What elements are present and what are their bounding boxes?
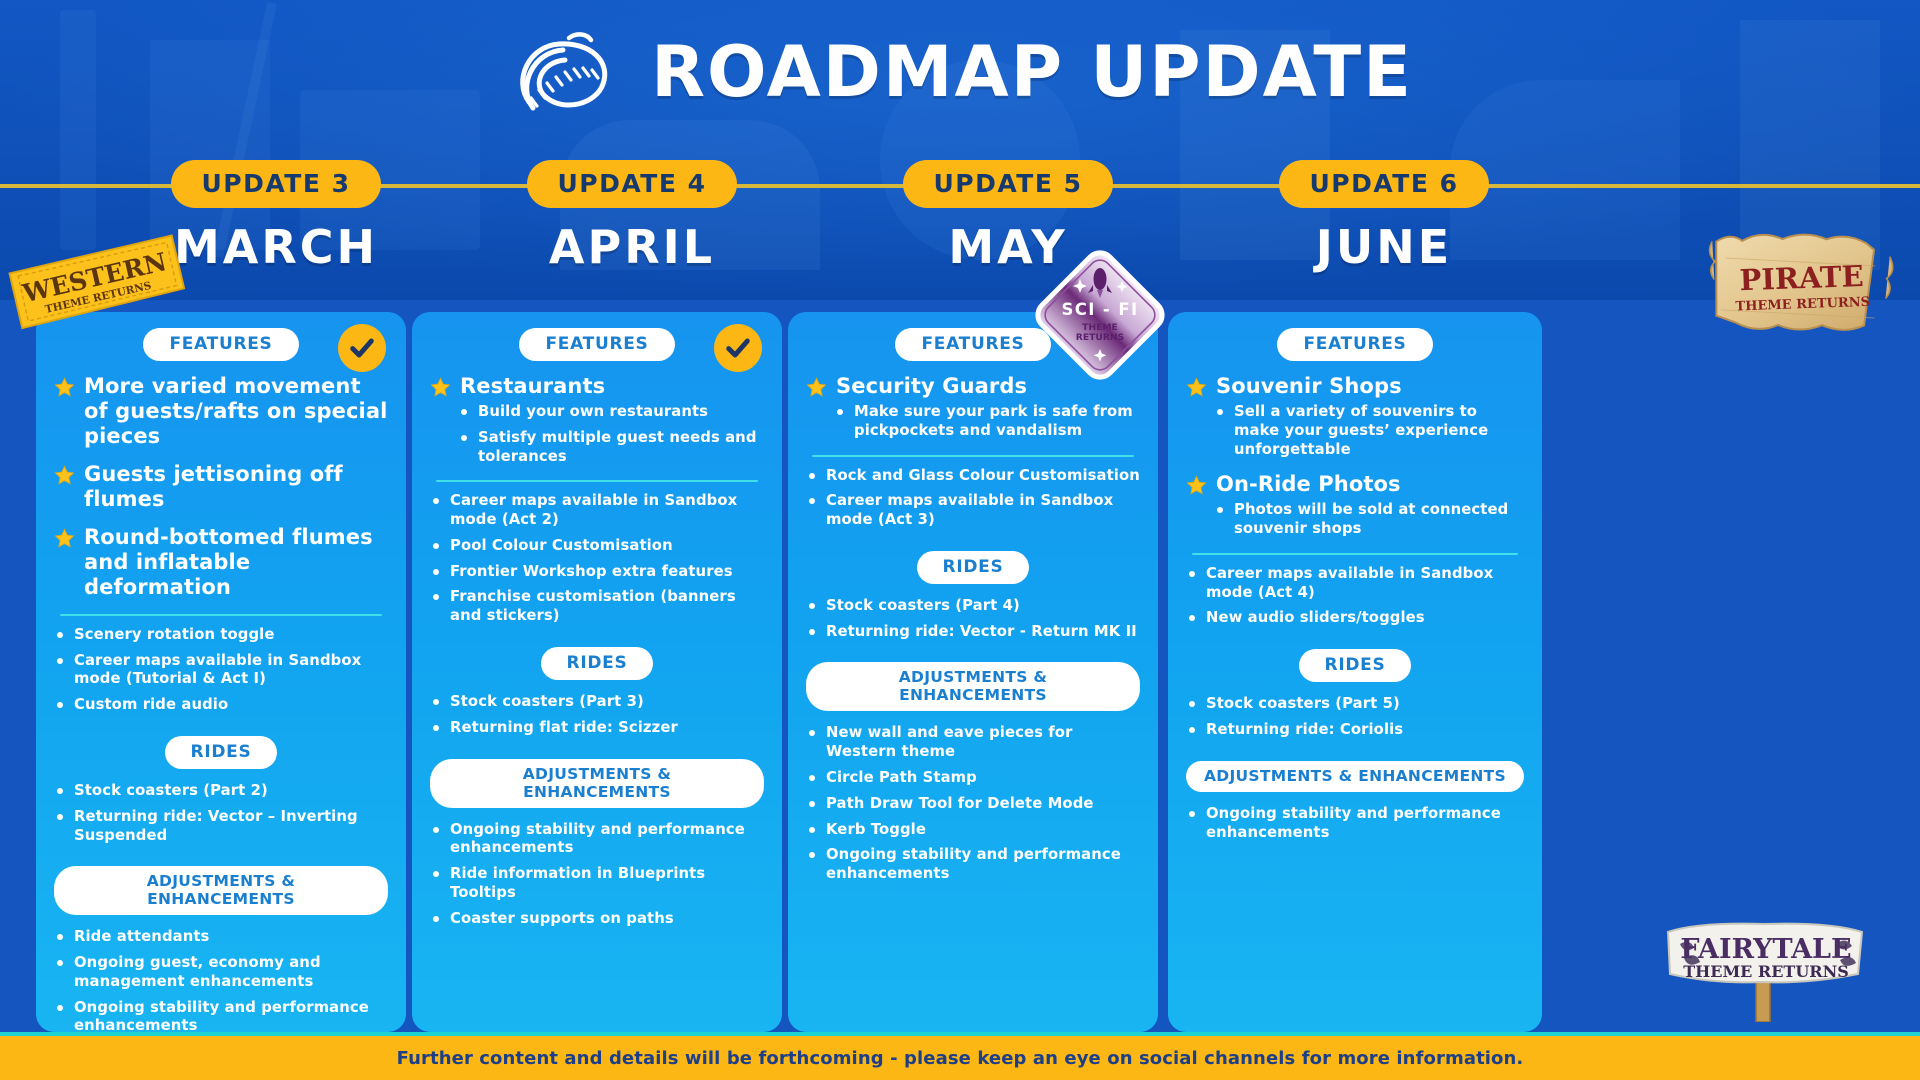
list-item: Stock coasters (Part 3) <box>430 693 764 712</box>
bullet-list: Stock coasters (Part 4)Returning ride: V… <box>806 597 1140 642</box>
list-item: Path Draw Tool for Delete Mode <box>806 795 1140 814</box>
adjustments-pill: ADJUSTMENTS & ENHANCEMENTS <box>430 759 764 808</box>
adjustments-pill: ADJUSTMENTS & ENHANCEMENTS <box>54 866 388 915</box>
checkmark-icon <box>724 334 752 362</box>
list-item: Sell a variety of souvenirs to make your… <box>1214 403 1524 459</box>
rides-pill: RIDES <box>165 736 278 769</box>
bullet-list: Make sure your park is safe from pickpoc… <box>834 403 1140 441</box>
feature-highlight: Restaurants <box>430 374 764 399</box>
list-item: Career maps available in Sandbox mode (A… <box>806 492 1140 530</box>
section-divider <box>60 614 382 616</box>
fairytale-theme-badge: FAIRYTALE THEME RETURNS <box>1660 912 1870 1022</box>
feature-highlight: On-Ride Photos <box>1186 472 1524 497</box>
bullet-list: Sell a variety of souvenirs to make your… <box>1214 403 1524 459</box>
footer-note: Further content and details will be fort… <box>397 1048 1524 1069</box>
adjustments-pill: ADJUSTMENTS & ENHANCEMENTS <box>806 662 1140 711</box>
update-pill[interactable]: UPDATE 4 <box>527 160 736 208</box>
list-item: Kerb Toggle <box>806 821 1140 840</box>
feature-title: Round-bottomed flumes and inflatable def… <box>84 525 388 600</box>
bullet-list: Career maps available in Sandbox mode (A… <box>1186 565 1524 628</box>
star-icon <box>54 377 75 398</box>
rides-pill: RIDES <box>917 551 1030 584</box>
bullet-list: Stock coasters (Part 3)Returning flat ri… <box>430 693 764 738</box>
feature-highlight: Souvenir Shops <box>1186 374 1524 399</box>
bullet-list: Build your own restaurantsSatisfy multip… <box>458 403 764 466</box>
page-title: ROADMAP UPDATE <box>651 31 1413 113</box>
roadmap-card-march: FEATURESMore varied movement of guests/r… <box>36 312 406 1032</box>
bullet-list: Scenery rotation toggleCareer maps avail… <box>54 626 388 715</box>
features-pill: FEATURES <box>143 328 298 361</box>
list-item: Ride attendants <box>54 928 388 947</box>
list-item: Stock coasters (Part 5) <box>1186 695 1524 714</box>
list-item: Returning ride: Vector – Inverting Suspe… <box>54 808 388 846</box>
feature-title: Security Guards <box>836 374 1027 399</box>
completed-check-badge <box>714 324 762 372</box>
bullet-list: Photos will be sold at connected souveni… <box>1214 501 1524 539</box>
list-item: Rock and Glass Colour Customisation <box>806 467 1140 486</box>
list-item: Returning ride: Vector - Return MK II <box>806 623 1140 642</box>
sci-fi-theme-badge: SCI - FI THEME RETURNS <box>1030 245 1170 385</box>
feature-title: On-Ride Photos <box>1216 472 1401 497</box>
adjustments-pill: ADJUSTMENTS & ENHANCEMENTS <box>1186 761 1524 792</box>
list-item: Ongoing stability and performance enhanc… <box>806 846 1140 884</box>
star-icon <box>1186 475 1207 496</box>
list-item: Frontier Workshop extra features <box>430 563 764 582</box>
bullet-list: New wall and eave pieces for Western the… <box>806 724 1140 883</box>
completed-check-badge <box>338 324 386 372</box>
rides-pill: RIDES <box>1299 649 1412 682</box>
list-item: Ongoing guest, economy and management en… <box>54 954 388 992</box>
section-divider <box>436 480 758 482</box>
rides-pill: RIDES <box>541 647 654 680</box>
list-item: New audio sliders/toggles <box>1186 609 1524 628</box>
features-pill: FEATURES <box>895 328 1050 361</box>
list-item: Ongoing stability and performance enhanc… <box>54 999 388 1037</box>
bullet-list: Stock coasters (Part 2)Returning ride: V… <box>54 782 388 845</box>
feature-title: Souvenir Shops <box>1216 374 1402 399</box>
list-item: Coaster supports on paths <box>430 910 764 929</box>
bullet-list: Stock coasters (Part 5)Returning ride: C… <box>1186 695 1524 740</box>
star-icon <box>430 377 451 398</box>
feature-highlight: Round-bottomed flumes and inflatable def… <box>54 525 388 600</box>
list-item: New wall and eave pieces for Western the… <box>806 724 1140 762</box>
fairytale-badge-subtitle: THEME RETURNS <box>1683 962 1849 981</box>
bullet-list: Ongoing stability and performance enhanc… <box>1186 805 1524 843</box>
pirate-theme-badge: PIRATE THEME RETURNS <box>1697 223 1903 351</box>
roadmap-card-april: FEATURESRestaurantsBuild your own restau… <box>412 312 782 1032</box>
list-item: Ongoing stability and performance enhanc… <box>1186 805 1524 843</box>
fairytale-badge-title: FAIRYTALE <box>1680 934 1851 965</box>
rollercoaster-loop-logo-icon <box>507 26 627 118</box>
star-icon <box>806 377 827 398</box>
list-item: Circle Path Stamp <box>806 769 1140 788</box>
month-label: JUNE <box>1144 220 1624 274</box>
bullet-list: Ongoing stability and performance enhanc… <box>430 821 764 929</box>
list-item: Stock coasters (Part 4) <box>806 597 1140 616</box>
list-item: Returning flat ride: Scizzer <box>430 719 764 738</box>
list-item: Career maps available in Sandbox mode (T… <box>54 652 388 690</box>
star-icon <box>1186 377 1207 398</box>
feature-title: More varied movement of guests/rafts on … <box>84 374 388 449</box>
list-item: Ride information in Blueprints Tooltips <box>430 865 764 903</box>
features-pill: FEATURES <box>519 328 674 361</box>
sci-fi-badge-title: SCI - FI <box>1061 300 1138 319</box>
features-pill: FEATURES <box>1277 328 1432 361</box>
bullet-list: Career maps available in Sandbox mode (A… <box>430 492 764 626</box>
feature-highlight: Guests jettisoning off flumes <box>54 462 388 512</box>
update-pill[interactable]: UPDATE 6 <box>1279 160 1488 208</box>
feature-title: Restaurants <box>460 374 605 399</box>
sci-fi-badge-subtitle-2: RETURNS <box>1076 332 1124 343</box>
list-item: Pool Colour Customisation <box>430 537 764 556</box>
list-item: Photos will be sold at connected souveni… <box>1214 501 1524 539</box>
list-item: Scenery rotation toggle <box>54 626 388 645</box>
list-item: Returning ride: Coriolis <box>1186 721 1524 740</box>
pirate-badge-title: PIRATE <box>1739 259 1864 297</box>
footer-banner: Further content and details will be fort… <box>0 1036 1920 1080</box>
list-item: Career maps available in Sandbox mode (A… <box>430 492 764 530</box>
list-item: Stock coasters (Part 2) <box>54 782 388 801</box>
bullet-list: Rock and Glass Colour CustomisationCaree… <box>806 467 1140 530</box>
roadmap-card-may: FEATURESSecurity GuardsMake sure your pa… <box>788 312 1158 1032</box>
update-pill[interactable]: UPDATE 3 <box>171 160 380 208</box>
list-item: Custom ride audio <box>54 696 388 715</box>
star-icon <box>54 528 75 549</box>
column-head-june: UPDATE 6JUNE <box>1144 160 1624 274</box>
list-item: Build your own restaurants <box>458 403 764 422</box>
list-item: Career maps available in Sandbox mode (A… <box>1186 565 1524 603</box>
bullet-list: Ride attendantsOngoing guest, economy an… <box>54 928 388 1036</box>
list-item: Make sure your park is safe from pickpoc… <box>834 403 1140 441</box>
list-item: Ongoing stability and performance enhanc… <box>430 821 764 859</box>
section-divider <box>1192 553 1518 555</box>
section-divider <box>812 455 1134 457</box>
update-pill[interactable]: UPDATE 5 <box>903 160 1112 208</box>
list-item: Satisfy multiple guest needs and toleran… <box>458 429 764 467</box>
roadmap-card-june: FEATURESSouvenir ShopsSell a variety of … <box>1168 312 1542 1032</box>
feature-highlight: More varied movement of guests/rafts on … <box>54 374 388 449</box>
feature-title: Guests jettisoning off flumes <box>84 462 388 512</box>
star-icon <box>54 465 75 486</box>
list-item: Franchise customisation (banners and sti… <box>430 588 764 626</box>
checkmark-icon <box>348 334 376 362</box>
